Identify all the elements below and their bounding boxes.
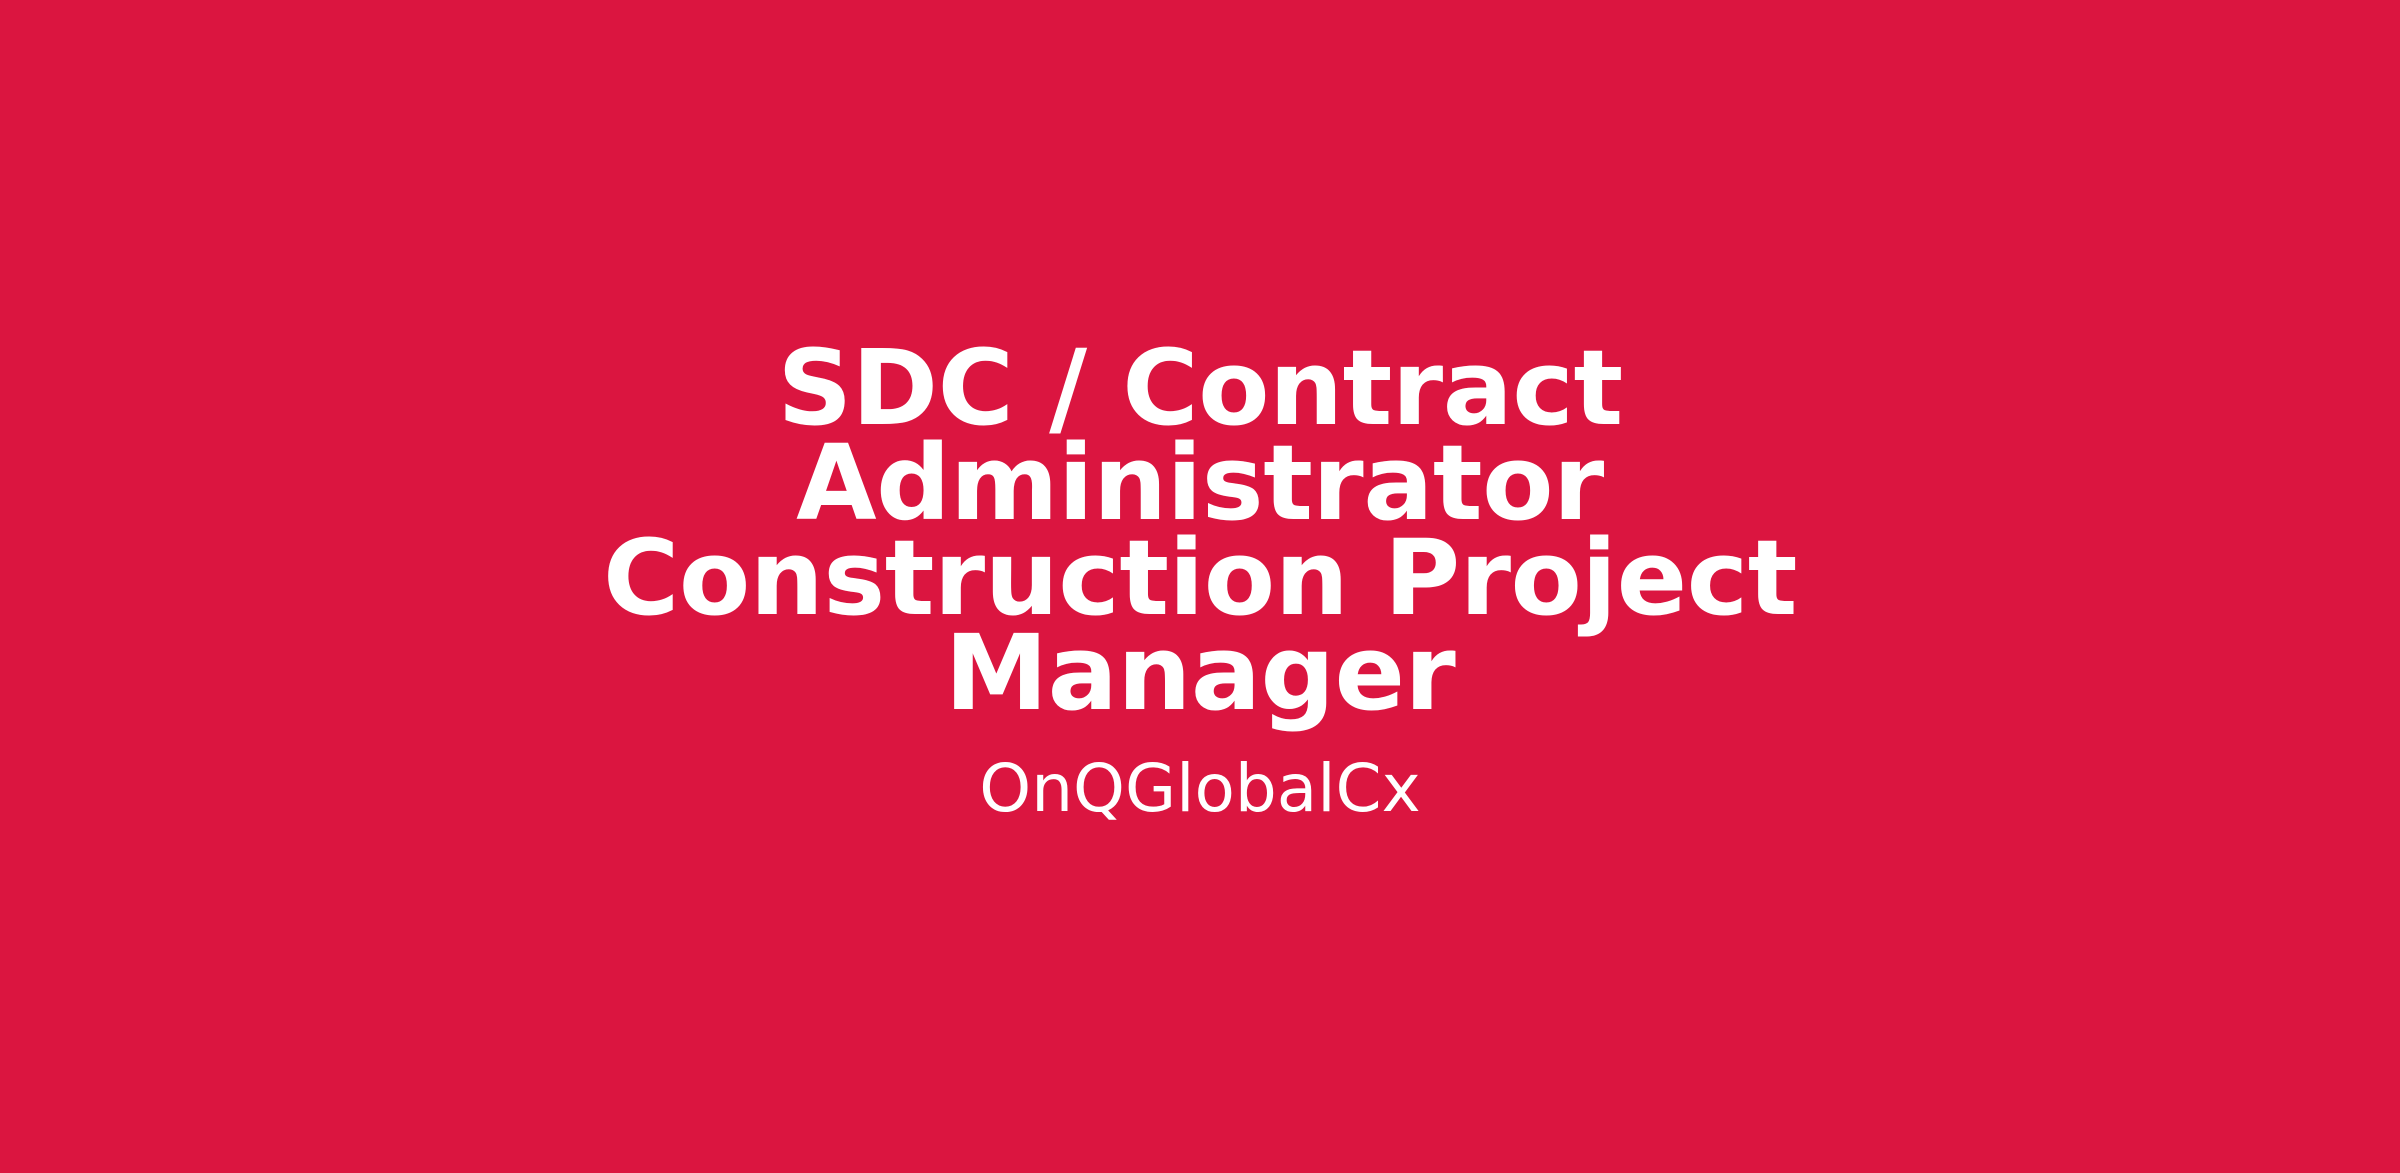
job-title: SDC / Contract Administrator Constructio… (470, 341, 1930, 721)
company-name: OnQGlobalCx (979, 751, 1420, 827)
job-posting-card: SDC / Contract Administrator Constructio… (0, 0, 2400, 1173)
card-text-block: SDC / Contract Administrator Constructio… (470, 341, 1930, 827)
